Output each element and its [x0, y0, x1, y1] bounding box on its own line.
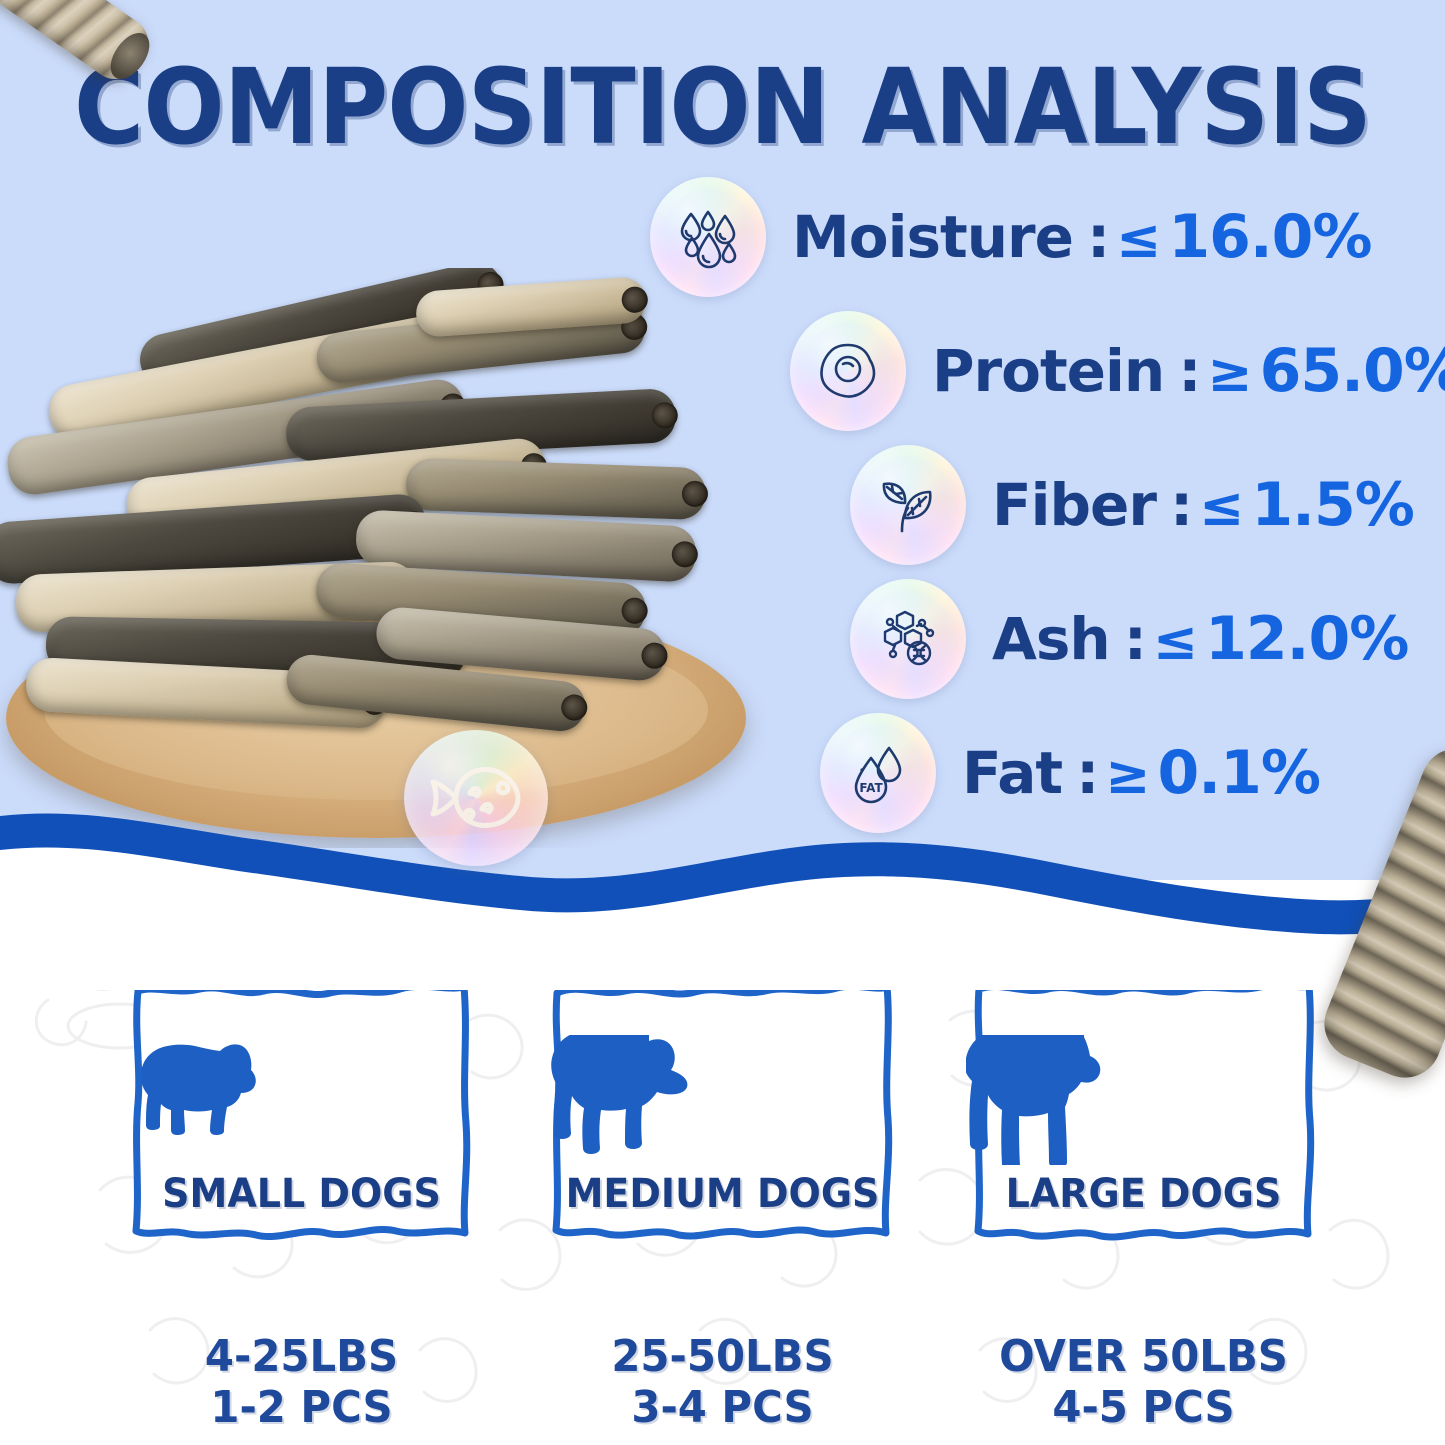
nutrition-operator: ≤: [1116, 207, 1160, 270]
card-title: MEDIUM DOGS: [554, 1171, 891, 1217]
card-subtitle: 4-25LBS 1-2 PCS: [133, 1331, 470, 1433]
nutrition-row-fiber: Fiber : ≤1.5%: [850, 438, 1440, 572]
card-frame: MEDIUM DOGS: [545, 975, 900, 1265]
card-subtitle: 25-50LBS 3-4 PCS: [554, 1331, 891, 1433]
nutrition-value: ≤12.0%: [1153, 604, 1408, 674]
nutrition-operator: ≥: [1207, 341, 1251, 404]
card-weight: OVER 50LBS: [975, 1331, 1312, 1382]
nutrition-separator: :: [1124, 605, 1147, 673]
card-pieces: 3-4 PCS: [554, 1382, 891, 1433]
nutrition-operator: ≤: [1153, 609, 1197, 672]
nutrition-value: ≤16.0%: [1116, 202, 1371, 272]
dog-size-cards: SMALL DOGS 4-25LBS 1-2 PCS: [0, 975, 1445, 1433]
dog-size-card-large[interactable]: LARGE DOGS OVER 50LBS 4-5 PCS: [966, 975, 1321, 1433]
card-pieces: 4-5 PCS: [975, 1382, 1312, 1433]
nutrition-label: Fiber: [992, 471, 1156, 539]
card-frame: LARGE DOGS: [966, 975, 1321, 1265]
nutrition-separator: :: [1178, 337, 1201, 405]
water-drops-icon: [650, 177, 766, 297]
page-title: COMPOSITION ANALYSIS: [58, 46, 1387, 168]
nutrition-percent: 16.0%: [1168, 202, 1371, 272]
nutrition-label: Protein: [932, 337, 1164, 405]
dog-size-card-medium[interactable]: MEDIUM DOGS 25-50LBS 3-4 PCS: [545, 975, 900, 1433]
top-panel: COMPOSITION ANALYSIS: [0, 0, 1445, 880]
nutrition-value: ≤1.5%: [1199, 470, 1414, 540]
nutrition-list: Moisture : ≤16.0% Protein :: [650, 170, 1440, 840]
leaf-plant-icon: [850, 445, 966, 565]
nutrition-operator: ≤: [1199, 475, 1243, 538]
nutrition-row-moisture: Moisture : ≤16.0%: [650, 170, 1440, 304]
card-weight: 25-50LBS: [554, 1331, 891, 1382]
wave-divider: [0, 790, 1445, 990]
nutrition-value: ≥65.0%: [1207, 336, 1445, 406]
card-pieces: 1-2 PCS: [133, 1382, 470, 1433]
nutrition-percent: 65.0%: [1260, 336, 1445, 406]
card-subtitle: OVER 50LBS 4-5 PCS: [975, 1331, 1312, 1433]
nutrition-percent: 1.5%: [1251, 470, 1413, 540]
nutrition-row-ash: Ash : ≤12.0%: [850, 572, 1440, 706]
fish-bubble-icon: [404, 730, 548, 866]
nutrition-percent: 12.0%: [1205, 604, 1408, 674]
card-title: LARGE DOGS: [975, 1171, 1312, 1217]
nutrition-label: Moisture: [792, 203, 1073, 271]
nutrition-label: Ash: [992, 605, 1110, 673]
nutrition-row-protein: Protein : ≥65.0%: [790, 304, 1440, 438]
card-weight: 4-25LBS: [133, 1331, 470, 1382]
card-frame: SMALL DOGS: [124, 975, 479, 1265]
fried-egg-icon: [790, 311, 906, 431]
composition-analysis-poster: COMPOSITION ANALYSIS: [0, 0, 1445, 1445]
dog-size-card-small[interactable]: SMALL DOGS 4-25LBS 1-2 PCS: [124, 975, 479, 1433]
card-title: SMALL DOGS: [133, 1171, 470, 1217]
nutrition-separator: :: [1170, 471, 1193, 539]
molecule-icon: [850, 579, 966, 699]
nutrition-separator: :: [1087, 203, 1110, 271]
